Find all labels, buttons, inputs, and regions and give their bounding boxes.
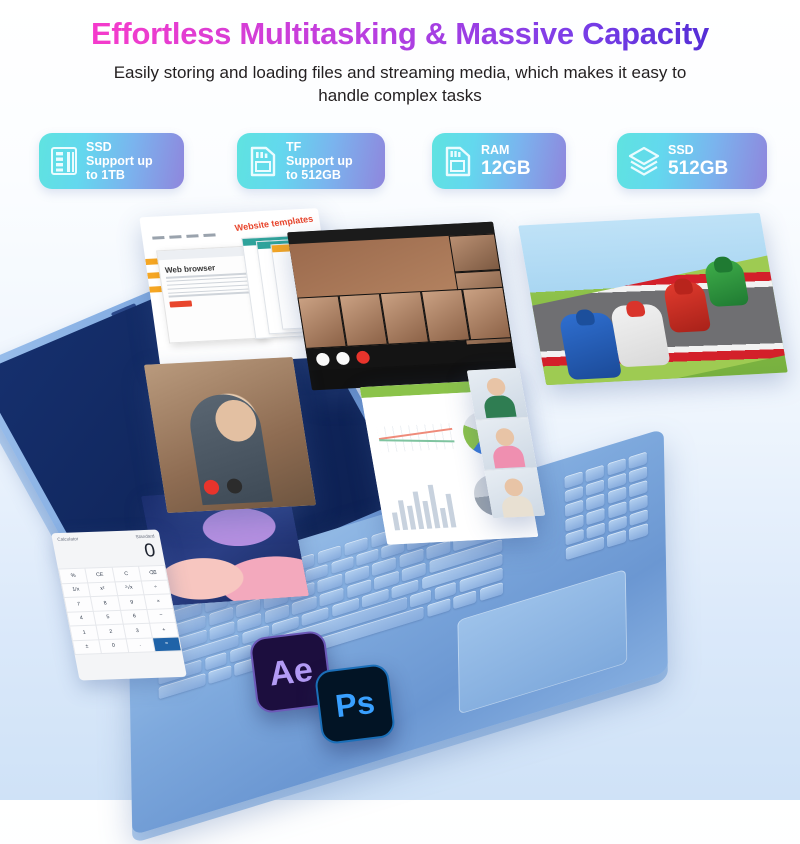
photoshop-icon[interactable]: Ps bbox=[314, 663, 396, 745]
layers-icon bbox=[627, 144, 661, 178]
spec-badge-ssd-1tb: SSD Support up to 1TB bbox=[39, 133, 184, 189]
participant-tile bbox=[476, 418, 537, 471]
spec-badge-tf-512gb: TF Support up to 512GB bbox=[237, 133, 385, 189]
badge-label: RAM bbox=[481, 143, 531, 157]
calculator-title: Calculator bbox=[57, 536, 79, 542]
badge-line-2: Support up bbox=[286, 154, 353, 168]
video-call-window[interactable] bbox=[144, 357, 316, 513]
badge-value: 512GB bbox=[668, 158, 728, 179]
calc-key[interactable]: CE bbox=[86, 568, 114, 582]
participant-tile bbox=[467, 368, 528, 421]
calc-key[interactable]: 4 bbox=[67, 611, 95, 625]
participant-tile bbox=[485, 468, 546, 518]
calc-key[interactable]: % bbox=[59, 569, 87, 583]
calculator-mode: Standard bbox=[135, 534, 155, 540]
calc-key[interactable]: ÷ bbox=[142, 580, 170, 594]
calc-key[interactable]: 1 bbox=[70, 626, 98, 640]
spec-badge-ram-12gb: RAM 12GB bbox=[432, 133, 566, 189]
mock-text-lines bbox=[161, 272, 260, 298]
spec-badge-text: SSD Support up to 1TB bbox=[86, 140, 153, 182]
badge-line-1: SSD bbox=[86, 140, 112, 154]
mock-cta-button bbox=[169, 301, 192, 308]
badge-line-2: Support up bbox=[86, 154, 153, 168]
calc-key[interactable]: × bbox=[144, 594, 172, 608]
calc-key[interactable]: − bbox=[147, 609, 175, 623]
calc-key[interactable]: ²√x bbox=[115, 581, 143, 595]
calc-key[interactable]: C bbox=[112, 567, 140, 581]
calc-key[interactable]: x² bbox=[88, 582, 116, 596]
active-speaker-video bbox=[289, 233, 511, 348]
video-conference-window[interactable] bbox=[287, 222, 518, 391]
spec-badge-text: RAM 12GB bbox=[481, 143, 531, 179]
racing-game-window[interactable] bbox=[518, 213, 788, 385]
spec-badge-ssd-512gb: SSD 512GB bbox=[617, 133, 767, 189]
badge-line-3: to 512GB bbox=[286, 168, 341, 182]
calc-key[interactable]: 1/x bbox=[62, 583, 90, 597]
page-subtitle: Easily storing and loading files and str… bbox=[90, 62, 710, 107]
camera-icon[interactable] bbox=[226, 478, 243, 494]
end-call-icon[interactable] bbox=[355, 350, 370, 364]
ram-stick-icon bbox=[49, 144, 79, 178]
calculator-display: 0 bbox=[53, 538, 165, 568]
laptop-product-render: Website templates Web browser bbox=[0, 190, 800, 800]
badge-label: SSD bbox=[668, 143, 728, 157]
spec-badge-row: SSD Support up to 1TB TF Support up to 5… bbox=[0, 133, 800, 197]
calc-key[interactable]: . bbox=[126, 638, 154, 652]
templates-title: Website templates bbox=[234, 214, 314, 233]
calc-key[interactable]: 5 bbox=[94, 610, 122, 624]
calc-key[interactable]: + bbox=[150, 623, 178, 637]
mic-icon[interactable] bbox=[315, 352, 330, 366]
end-call-icon[interactable] bbox=[203, 479, 220, 495]
calc-key[interactable]: 6 bbox=[121, 609, 149, 623]
memory-card-icon bbox=[442, 144, 474, 178]
badge-line-3: to 1TB bbox=[86, 168, 125, 182]
calc-key[interactable]: 3 bbox=[123, 624, 151, 638]
participant-grid bbox=[297, 287, 511, 349]
calc-key[interactable]: 2 bbox=[97, 625, 125, 639]
camera-icon[interactable] bbox=[335, 351, 350, 365]
spec-badge-text: TF Support up to 512GB bbox=[286, 140, 353, 182]
call-control-bar[interactable] bbox=[203, 478, 244, 495]
badge-value: 12GB bbox=[481, 158, 531, 179]
calc-key[interactable]: ± bbox=[73, 640, 101, 654]
spec-badge-text: SSD 512GB bbox=[668, 143, 728, 179]
calc-key-equals[interactable]: = bbox=[153, 637, 181, 651]
calculator-keypad[interactable]: % CE C ⌫ 1/x x² ²√x ÷ 7 8 9 × 4 5 6 − 1 … bbox=[58, 565, 182, 655]
browser-nav-bar bbox=[152, 233, 216, 239]
bar-chart bbox=[387, 480, 457, 530]
tf-card-icon bbox=[247, 144, 279, 178]
page-title: Effortless Multitasking & Massive Capaci… bbox=[0, 16, 800, 52]
calc-key[interactable]: 8 bbox=[91, 596, 119, 610]
calc-key[interactable]: 7 bbox=[65, 597, 93, 611]
calc-key[interactable]: 9 bbox=[118, 595, 146, 609]
badge-line-1: TF bbox=[286, 140, 301, 154]
calc-key[interactable]: ⌫ bbox=[139, 566, 167, 580]
calc-key[interactable]: 0 bbox=[100, 639, 128, 653]
promo-banner: Effortless Multitasking & Massive Capaci… bbox=[0, 0, 800, 800]
